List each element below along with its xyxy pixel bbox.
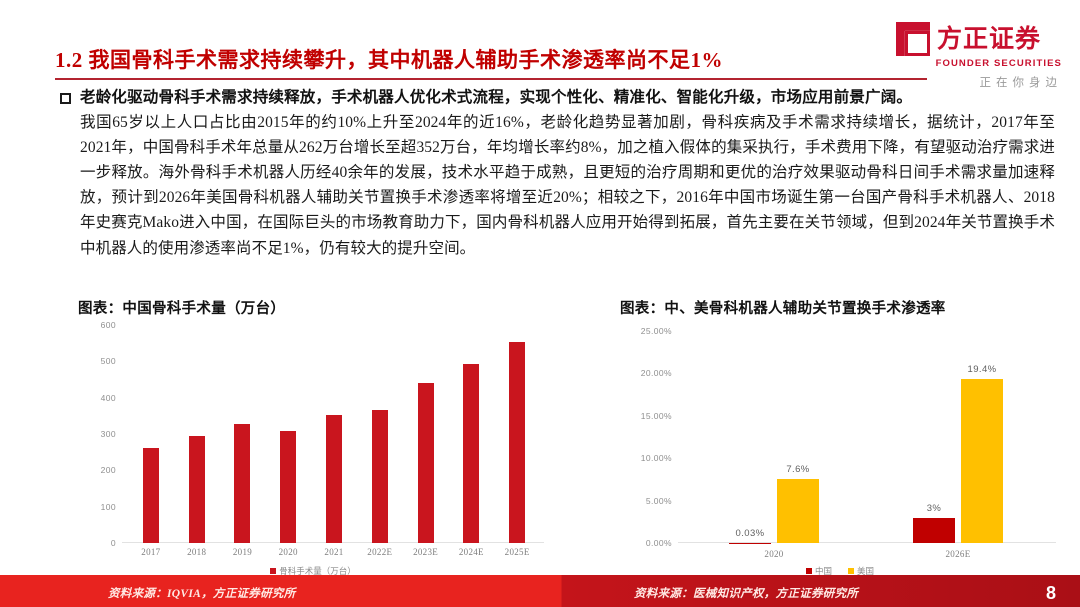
bar xyxy=(463,364,479,543)
bar-group xyxy=(494,325,540,543)
bar-group xyxy=(265,325,311,543)
x-tick-label: 2017 xyxy=(128,547,174,557)
x-tick-label: 2025E xyxy=(494,547,540,557)
chart-china-surgery-volume: 图表：中国骨科手术量（万台） 0100200300400500600 20172… xyxy=(78,297,548,567)
bar-group xyxy=(220,325,266,543)
source-right: 资料来源：医械知识产权，方正证券研究所 xyxy=(634,585,858,601)
chart-right-title: 图表：中、美骨科机器人辅助关节置换手术渗透率 xyxy=(620,297,1060,318)
y-tick-label: 25.00% xyxy=(641,326,672,336)
bar xyxy=(326,415,342,543)
page-number: 8 xyxy=(1046,583,1056,604)
x-tick-label: 2020 xyxy=(265,547,311,557)
bar xyxy=(189,436,205,543)
bar-group xyxy=(128,325,174,543)
y-tick-label: 15.00% xyxy=(641,411,672,421)
slide-root: 方正证券 FOUNDER SECURITIES 正在你身边 1.2 我国骨科手术… xyxy=(0,0,1080,607)
y-tick-label: 20.00% xyxy=(641,368,672,378)
y-tick-label: 10.00% xyxy=(641,453,672,463)
x-tick-label: 2019 xyxy=(220,547,266,557)
bar: 19.4% xyxy=(961,379,1003,544)
bar-group xyxy=(311,325,357,543)
founder-securities-mark-icon xyxy=(896,22,930,56)
chart-left-title: 图表：中国骨科手术量（万台） xyxy=(78,297,548,318)
x-tick-label: 2026E xyxy=(866,549,1050,559)
logo-chinese-name: 方正证券 xyxy=(937,27,1041,52)
square-bullet-icon xyxy=(60,93,71,104)
bar-group xyxy=(357,325,403,543)
chart-penetration-rate: 图表：中、美骨科机器人辅助关节置换手术渗透率 0.00%5.00%10.00%1… xyxy=(620,297,1060,567)
y-tick-label: 100 xyxy=(101,502,116,512)
bar-group: 0.03%7.6% xyxy=(682,331,866,543)
bar-group xyxy=(448,325,494,543)
chart-left-bars xyxy=(128,325,540,543)
bar: 7.6% xyxy=(777,479,819,543)
legend-swatch-icon xyxy=(848,568,854,574)
lead-statement: 老龄化驱动骨科手术需求持续释放，手术机器人优化术式流程，实现个性化、精准化、智能… xyxy=(60,88,1060,109)
chart-right-y-axis: 0.00%5.00%10.00%15.00%20.00%25.00% xyxy=(620,331,678,543)
chart-left-x-axis: 201720182019202020212022E2023E2024E2025E xyxy=(128,547,540,557)
source-left: 资料来源：IQVIA，方正证券研究所 xyxy=(108,585,296,601)
y-tick-label: 300 xyxy=(101,429,116,439)
bar-value-label: 7.6% xyxy=(786,464,809,475)
x-tick-label: 2020 xyxy=(682,549,866,559)
bar xyxy=(418,383,434,543)
bar-group xyxy=(174,325,220,543)
y-tick-label: 200 xyxy=(101,465,116,475)
legend-swatch-icon xyxy=(806,568,812,574)
legend-swatch-icon xyxy=(270,568,276,574)
body-paragraph: 我国65岁以上人口占比由2015年的约10%上升至2024年的近16%，老龄化趋… xyxy=(80,110,1055,261)
chart-right-plot: 0.00%5.00%10.00%15.00%20.00%25.00% 0.03%… xyxy=(620,331,1060,543)
bar-value-label: 19.4% xyxy=(968,364,997,375)
chart-right-bars: 0.03%7.6%3%19.4% xyxy=(682,331,1050,543)
title-divider xyxy=(55,78,927,80)
x-tick-label: 2024E xyxy=(448,547,494,557)
bar xyxy=(509,342,525,543)
x-tick-label: 2022E xyxy=(357,547,403,557)
bar-value-label: 3% xyxy=(927,503,942,514)
y-tick-label: 0.00% xyxy=(646,538,672,548)
bar xyxy=(234,424,250,543)
y-tick-label: 0 xyxy=(111,538,116,548)
logo-english-name: FOUNDER SECURITIES xyxy=(896,58,1064,69)
bar-group xyxy=(403,325,449,543)
y-tick-label: 5.00% xyxy=(646,496,672,506)
bar-group: 3%19.4% xyxy=(866,331,1050,543)
chart-right-x-axis: 20202026E xyxy=(682,549,1050,559)
x-tick-label: 2018 xyxy=(174,547,220,557)
y-tick-label: 600 xyxy=(101,320,116,330)
page-title: 1.2 我国骨科手术需求持续攀升，其中机器人辅助手术渗透率尚不足1% xyxy=(55,44,723,74)
bar xyxy=(143,448,159,543)
x-tick-label: 2023E xyxy=(403,547,449,557)
logo-row: 方正证券 xyxy=(896,22,1064,56)
x-tick-label: 2021 xyxy=(311,547,357,557)
chart-left-plot: 0100200300400500600 xyxy=(78,325,548,543)
chart-left-y-axis: 0100200300400500600 xyxy=(78,325,122,543)
bar: 3% xyxy=(913,518,955,543)
bar xyxy=(280,431,296,543)
lead-statement-text: 老龄化驱动骨科手术需求持续释放，手术机器人优化术式流程，实现个性化、精准化、智能… xyxy=(80,88,912,109)
bar xyxy=(372,410,388,543)
y-tick-label: 500 xyxy=(101,356,116,366)
bar-value-label: 0.03% xyxy=(736,528,765,539)
y-tick-label: 400 xyxy=(101,393,116,403)
